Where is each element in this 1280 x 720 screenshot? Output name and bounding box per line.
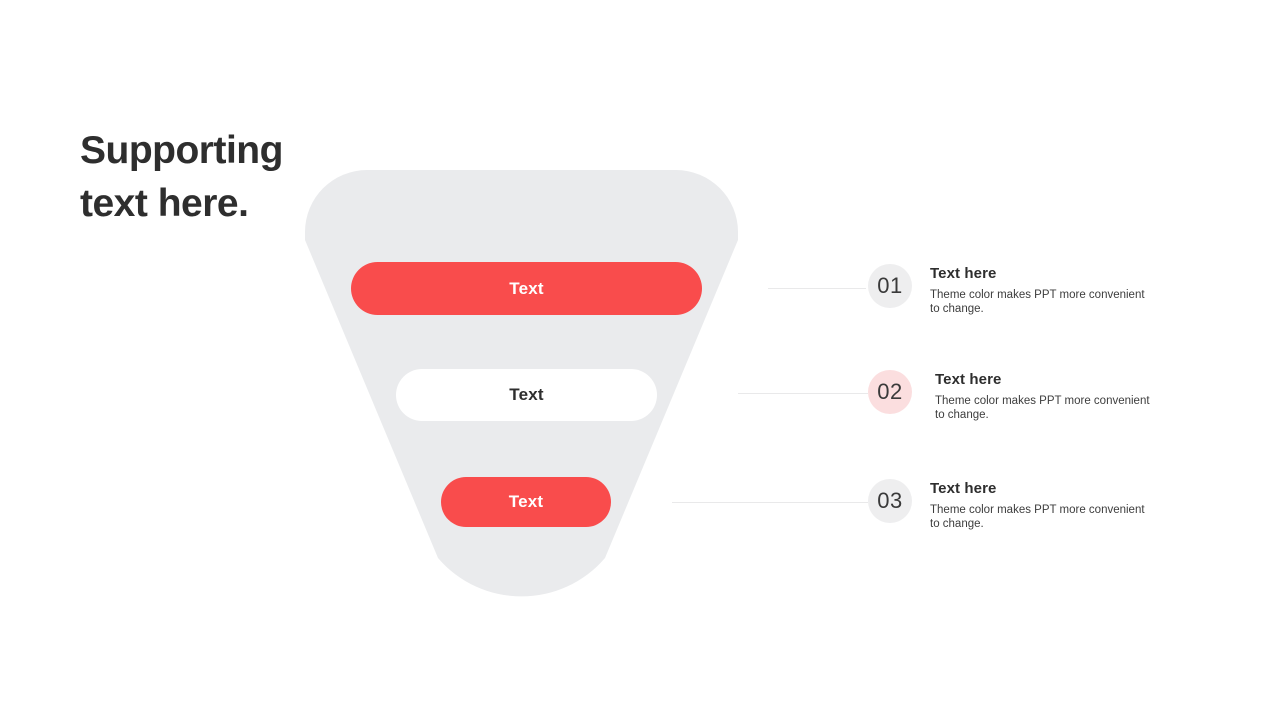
step-item-02[interactable]: 02 Text here Theme color makes PPT more … [868, 370, 1193, 422]
step-text-block-02: Text here Theme color makes PPT more con… [935, 370, 1193, 422]
funnel-stage-2-label: Text [509, 385, 544, 405]
connector-line-1 [768, 288, 866, 289]
step-item-01[interactable]: 01 Text here Theme color makes PPT more … [868, 264, 1188, 316]
step-text-block-03: Text here Theme color makes PPT more con… [930, 479, 1188, 531]
step-title-03: Text here [930, 480, 1188, 497]
funnel-stage-3-label: Text [509, 492, 544, 512]
connector-line-3 [672, 502, 868, 503]
step-item-03[interactable]: 03 Text here Theme color makes PPT more … [868, 479, 1188, 531]
funnel-stage-1-label: Text [509, 279, 544, 299]
step-description-01: Theme color makes PPT more convenient to… [930, 288, 1188, 316]
funnel-stage-1[interactable]: Text [351, 262, 702, 315]
step-title-02: Text here [935, 371, 1193, 388]
connector-line-2 [738, 393, 868, 394]
funnel-stage-2[interactable]: Text [396, 369, 657, 421]
step-description-03: Theme color makes PPT more convenient to… [930, 503, 1188, 531]
step-number-badge-03: 03 [868, 479, 912, 523]
step-text-block-01: Text here Theme color makes PPT more con… [930, 264, 1188, 316]
funnel-stage-3[interactable]: Text [441, 477, 611, 527]
slide-canvas: Supporting text here. Text Text Text 01 … [0, 0, 1280, 720]
step-description-02: Theme color makes PPT more convenient to… [935, 394, 1193, 422]
step-number-badge-02: 02 [868, 370, 912, 414]
step-number-badge-01: 01 [868, 264, 912, 308]
step-title-01: Text here [930, 265, 1188, 282]
